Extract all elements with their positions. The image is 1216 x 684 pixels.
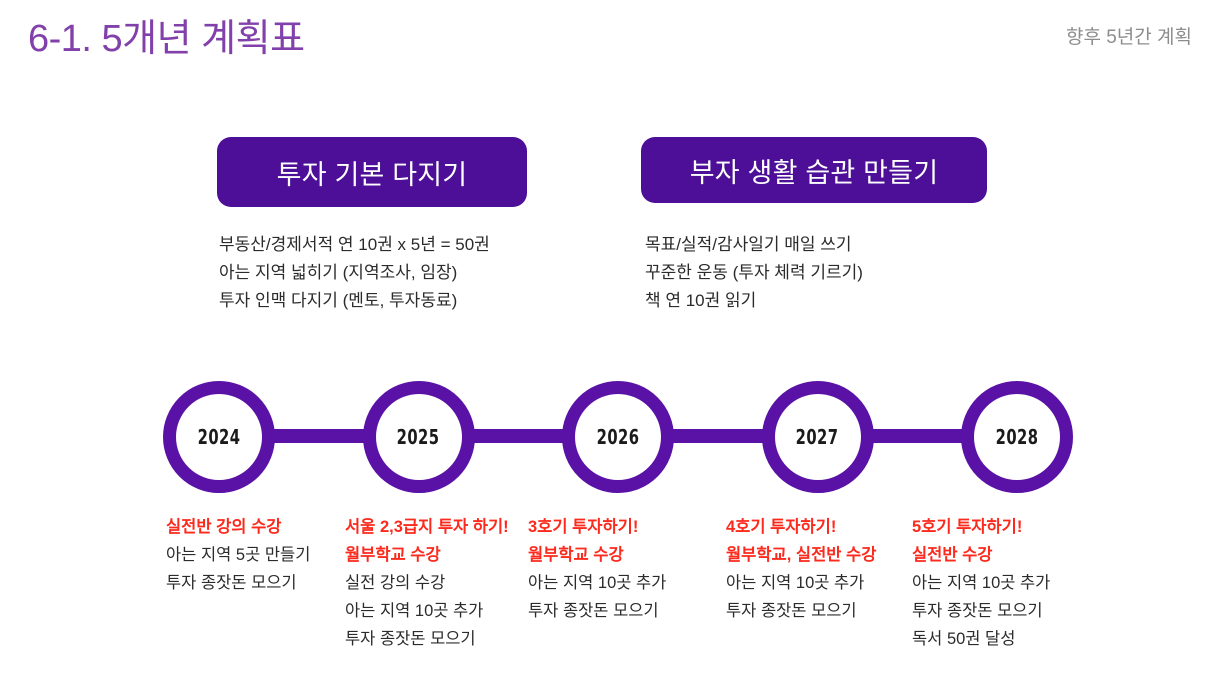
timeline-connector [467,429,571,443]
timeline-column-2026: 3호기 투자하기!월부학교 수강아는 지역 10곳 추가투자 종잣돈 모으기 [528,513,666,625]
timeline-node-year: 2028 [996,425,1039,449]
timeline-column-2024: 실전반 강의 수강아는 지역 5곳 만들기투자 종잣돈 모으기 [166,513,310,597]
timeline-column-item: 투자 종잣돈 모으기 [528,597,666,625]
goal-box-notes-investment-basics: 부동산/경제서적 연 10권 x 5년 = 50권아는 지역 넓히기 (지역조사… [219,231,490,315]
header-subtitle-note: 향후 5년간 계획 [1066,22,1192,49]
timeline-column-2025: 서울 2,3급지 투자 하기!월부학교 수강실전 강의 수강아는 지역 10곳 … [345,513,509,653]
timeline-node-2024: 2024 [163,381,275,493]
timeline-connector [267,429,371,443]
timeline-node-2027: 2027 [762,381,874,493]
goal-box-note-line: 목표/실적/감사일기 매일 쓰기 [645,231,863,259]
timeline-column-2028: 5호기 투자하기!실전반 수강아는 지역 10곳 추가투자 종잣돈 모으기독서 … [912,513,1050,653]
timeline-node-2028: 2028 [961,381,1073,493]
timeline-column-highlight: 5호기 투자하기! [912,513,1050,541]
page-title: 6-1. 5개년 계획표 [28,18,305,62]
goal-box-note-line: 책 연 10권 읽기 [645,287,863,315]
timeline-column-highlight: 4호기 투자하기! [726,513,876,541]
timeline-node-2025: 2025 [363,381,475,493]
goal-box-note-line: 꾸준한 운동 (투자 체력 기르기) [645,259,863,287]
timeline-column-item: 독서 50권 달성 [912,625,1050,653]
timeline-node-year: 2026 [597,425,640,449]
timeline-node-year: 2025 [397,425,440,449]
goal-box-label: 투자 기본 다지기 [277,153,468,192]
timeline-column-item: 아는 지역 10곳 추가 [912,569,1050,597]
goal-box-investment-basics: 투자 기본 다지기 [217,137,527,207]
timeline-connector [666,429,770,443]
timeline-column-item: 아는 지역 10곳 추가 [726,569,876,597]
goal-box-rich-habits: 부자 생활 습관 만들기 [641,137,987,203]
timeline-column-item: 투자 종잣돈 모으기 [912,597,1050,625]
timeline-column-highlight: 월부학교, 실전반 수강 [726,541,876,569]
goal-box-note-line: 부동산/경제서적 연 10권 x 5년 = 50권 [219,231,490,259]
timeline-column-item: 투자 종잣돈 모으기 [166,569,310,597]
timeline-node-2026: 2026 [562,381,674,493]
timeline-column-item: 아는 지역 10곳 추가 [345,597,509,625]
goal-box-note-line: 투자 인맥 다지기 (멘토, 투자동료) [219,287,490,315]
timeline-column-highlight: 월부학교 수강 [528,541,666,569]
goal-box-notes-rich-habits: 목표/실적/감사일기 매일 쓰기꾸준한 운동 (투자 체력 기르기)책 연 10… [645,231,863,315]
timeline: 20242025202620272028 [163,381,1073,493]
timeline-connector [866,429,970,443]
timeline-column-highlight: 실전반 수강 [912,541,1050,569]
timeline-column-2027: 4호기 투자하기!월부학교, 실전반 수강아는 지역 10곳 추가투자 종잣돈 … [726,513,876,625]
goal-box-label: 부자 생활 습관 만들기 [690,151,938,190]
timeline-column-item: 아는 지역 10곳 추가 [528,569,666,597]
timeline-column-highlight: 3호기 투자하기! [528,513,666,541]
timeline-column-item: 투자 종잣돈 모으기 [345,625,509,653]
timeline-column-highlight: 실전반 강의 수강 [166,513,310,541]
timeline-column-item: 투자 종잣돈 모으기 [726,597,876,625]
timeline-column-item: 실전 강의 수강 [345,569,509,597]
timeline-column-item: 아는 지역 5곳 만들기 [166,541,310,569]
timeline-column-highlight: 서울 2,3급지 투자 하기! [345,513,509,541]
timeline-node-year: 2024 [198,425,241,449]
goal-box-note-line: 아는 지역 넓히기 (지역조사, 임장) [219,259,490,287]
timeline-column-highlight: 월부학교 수강 [345,541,509,569]
timeline-node-year: 2027 [796,425,839,449]
